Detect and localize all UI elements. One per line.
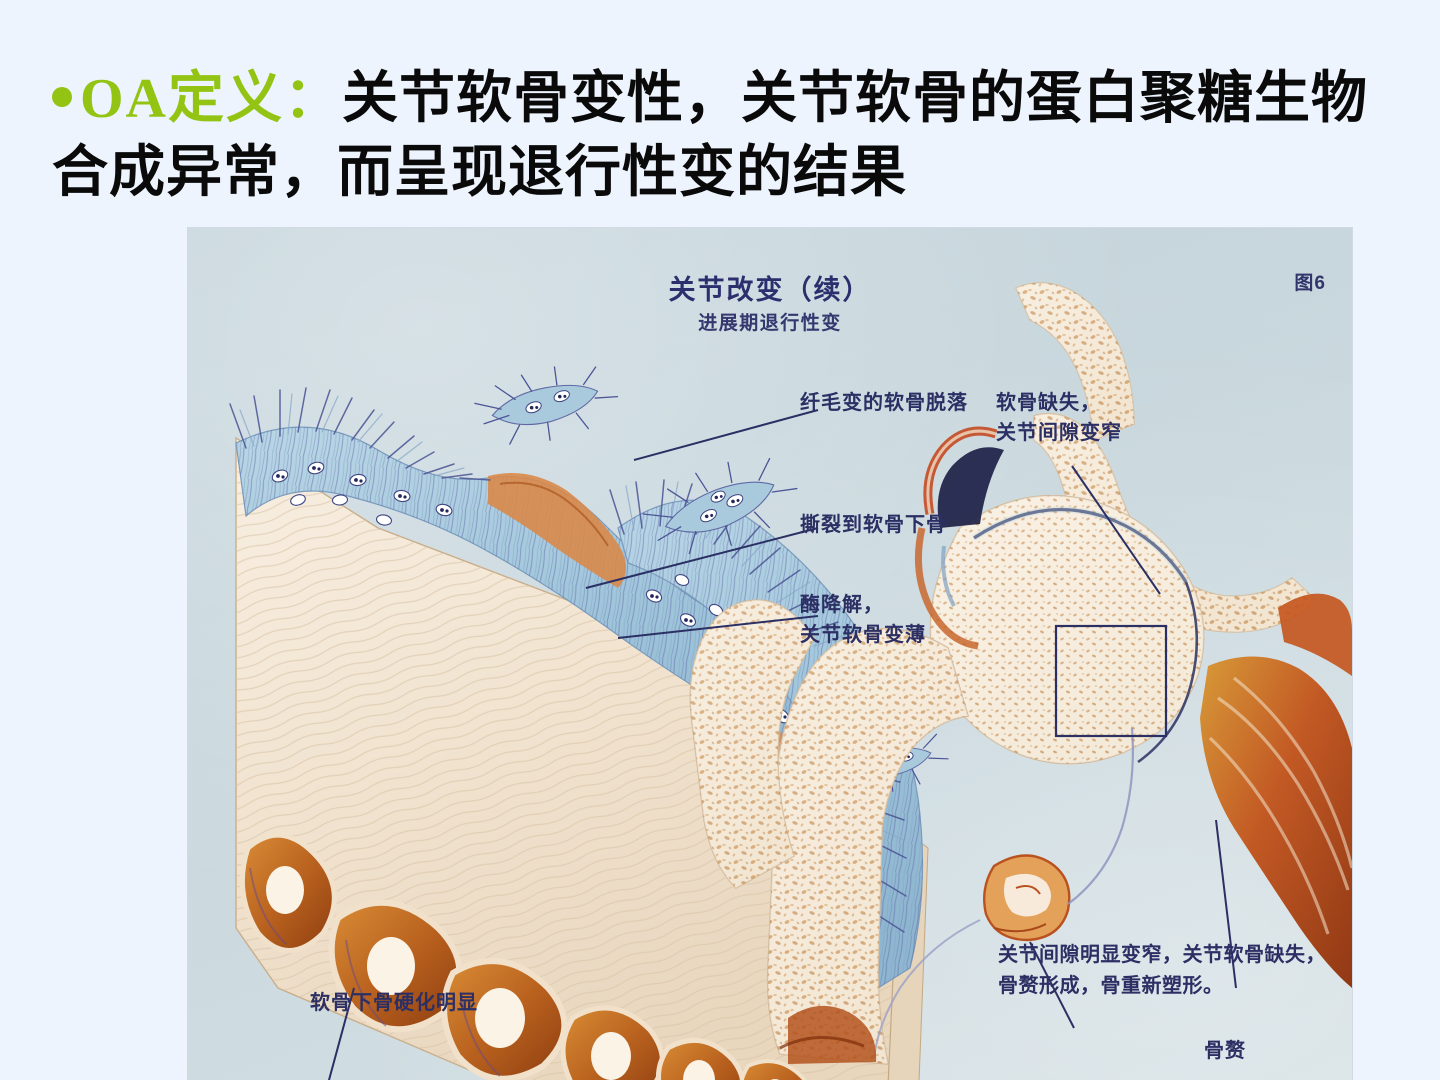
figure-title: 关节改变（续） bbox=[188, 268, 1352, 307]
figure-number: 图6 bbox=[1294, 268, 1326, 295]
annotation-tear-to-subchondral-bone: 撕裂到软骨下骨 bbox=[800, 510, 947, 540]
annotation-subchondral-sclerosis: 软骨下骨硬化明显 bbox=[310, 988, 478, 1018]
annotation-cartilage-loss: 软骨缺失， 关节间隙变窄 bbox=[996, 388, 1122, 448]
bullet-dot-icon bbox=[52, 87, 72, 107]
annotation-enzymatic-degradation: 酶降解， 关节软骨变薄 bbox=[800, 590, 926, 650]
presentation-slide: OA定义：关节软骨变性，关节软骨的蛋白聚糖生物合成异常，而呈现退行性变的结果 bbox=[0, 0, 1440, 1080]
anatomy-figure-plate: 关节改变（续） 进展期退行性变 图6 纤毛变的软骨脱落 软骨缺失， 关节间隙变窄… bbox=[188, 228, 1352, 1080]
annotation-detached-cartilage: 纤毛变的软骨脱落 bbox=[800, 388, 968, 418]
annotation-osteophyte: 骨赘 bbox=[1204, 1036, 1246, 1066]
figure-caption: 关节间隙明显变窄，关节软骨缺失， 骨赘形成，骨重新塑形。 bbox=[998, 940, 1348, 1002]
headline-term: OA定义： bbox=[80, 68, 342, 130]
figure-subtitle: 进展期退行性变 bbox=[188, 308, 1352, 335]
slide-headline: OA定义：关节软骨变性，关节软骨的蛋白聚糖生物合成异常，而呈现退行性变的结果 bbox=[52, 62, 1392, 210]
osteophyte-structure bbox=[984, 855, 1069, 940]
